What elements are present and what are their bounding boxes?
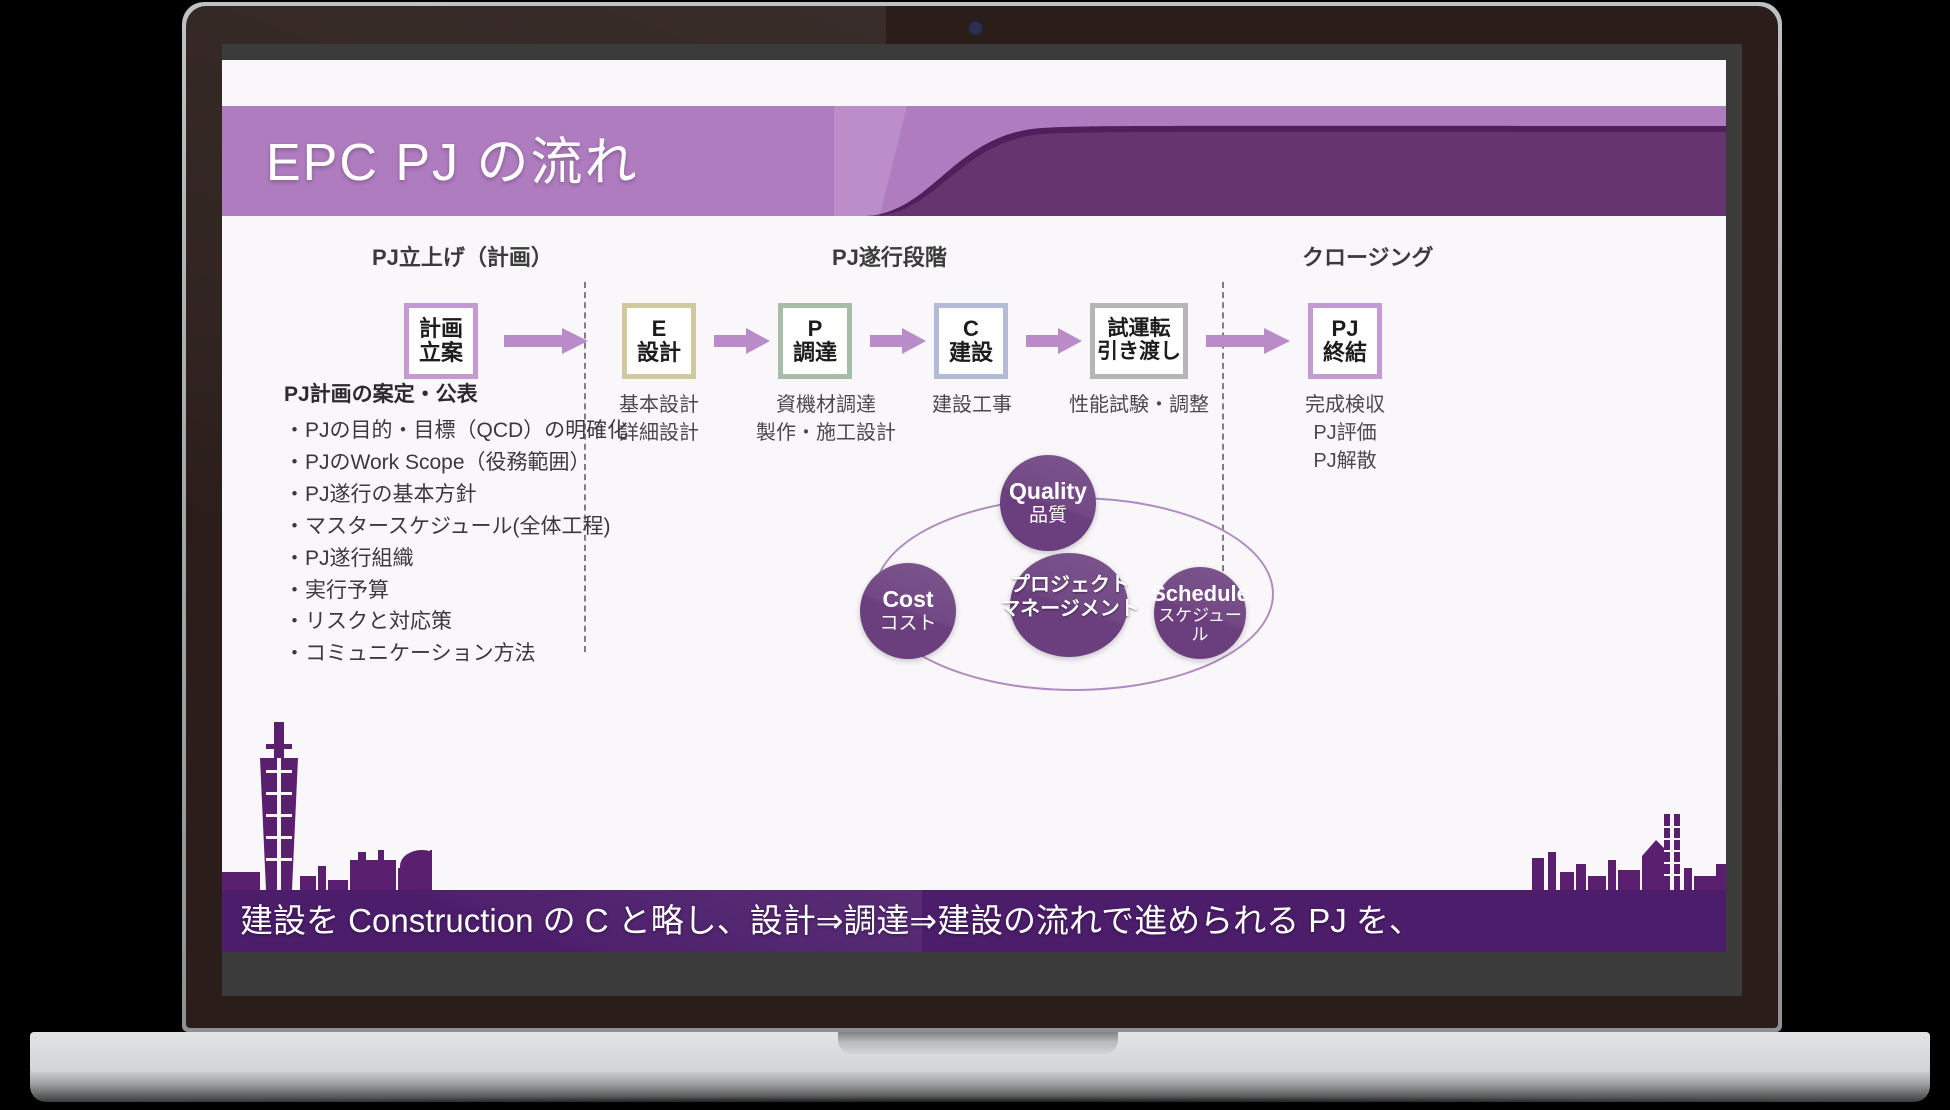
- laptop-frame: EPC PJ の流れ PJ立上げ（計画） PJ遂行段階 クロージング 計画 立案…: [0, 0, 1950, 1109]
- qcd-center-label: プロジェクト マネージメント: [970, 573, 1170, 621]
- sub-caption-commissioning: 性能試験・調整: [1058, 392, 1220, 418]
- phase-box-e-line2: 設計: [637, 341, 681, 365]
- laptop-drop-shadow: [120, 1096, 1840, 1110]
- list-item: ・コミュニケーション方法: [284, 638, 754, 670]
- arrow-e-to-p: [714, 328, 770, 354]
- bubble-glare: [1000, 455, 1096, 551]
- slide-canvas: EPC PJ の流れ PJ立上げ（計画） PJ遂行段階 クロージング 計画 立案…: [222, 60, 1726, 890]
- group-label-execution: PJ遂行段階: [832, 240, 947, 272]
- caption-text: 建設を Construction の C と略し、設計⇒調達⇒建設の流れで進めら…: [240, 890, 1720, 952]
- phase-box-plan-line1: 計画: [419, 317, 463, 341]
- list-item: ・PJ遂行組織: [284, 543, 754, 575]
- skyline-left-decoration: [222, 700, 432, 890]
- page-title: EPC PJ の流れ: [266, 122, 906, 204]
- phase-box-t-line1: 試運転: [1108, 318, 1171, 341]
- phase-box-p-line1: P: [808, 317, 823, 341]
- phase-box-commissioning[interactable]: 試運転 引き渡し: [1090, 303, 1188, 379]
- arrow-plan-to-e: [504, 328, 588, 354]
- phase-box-plan[interactable]: 計画 立案: [404, 303, 478, 379]
- qcd-center-line2: マネージメント: [970, 597, 1170, 621]
- list-item: ・実行予算: [284, 575, 754, 607]
- list-item: ・PJ遂行の基本方針: [284, 479, 754, 511]
- arrow-c-to-commissioning: [1026, 328, 1082, 354]
- sub-caption-procurement-1: 資機材調達: [732, 392, 920, 418]
- bullet-list-heading: PJ計画の案定・公表: [284, 378, 754, 408]
- qcd-bubble-quality[interactable]: Quality 品質: [1000, 455, 1096, 551]
- qcd-diagram: Quality 品質 Cost コスト Schedule スケジュール プロジェ…: [852, 455, 1292, 695]
- phase-box-z-line2: 終結: [1323, 341, 1367, 365]
- arrow-commissioning-to-close: [1206, 328, 1290, 354]
- bubble-glare: [860, 563, 956, 659]
- planning-bullet-list: PJ計画の案定・公表 ・PJの目的・目標（QCD）の明確化 ・PJのWork S…: [284, 378, 754, 670]
- laptop-base-notch: [838, 1032, 1118, 1054]
- skyline-right-decoration: [1526, 760, 1726, 890]
- arrow-p-to-c: [870, 328, 926, 354]
- phase-box-c-line2: 建設: [949, 341, 993, 365]
- phase-box-c-line1: C: [963, 317, 979, 341]
- phase-box-engineering[interactable]: E 設計: [622, 303, 696, 379]
- list-item: ・リスクと対応策: [284, 606, 754, 638]
- group-label-planning: PJ立上げ（計画）: [372, 240, 553, 272]
- phase-box-z-line1: PJ: [1332, 317, 1359, 341]
- phase-box-plan-line2: 立案: [419, 341, 463, 365]
- sub-caption-closure-1: 完成検収: [1272, 392, 1418, 418]
- qcd-center-line1: プロジェクト: [970, 573, 1170, 597]
- webcam-icon: [968, 20, 983, 35]
- list-item: ・マスタースケジュール(全体工程): [284, 511, 754, 543]
- phase-box-t-line2: 引き渡し: [1097, 341, 1181, 364]
- sub-caption-procurement-2: 製作・施工設計: [732, 420, 920, 446]
- sub-caption-construction: 建設工事: [908, 392, 1036, 418]
- phase-box-e-line1: E: [652, 317, 667, 341]
- phase-box-p-line2: 調達: [793, 341, 837, 365]
- sub-caption-closure-3: PJ解散: [1272, 448, 1418, 474]
- sub-caption-closure-2: PJ評価: [1272, 420, 1418, 446]
- phase-box-closure[interactable]: PJ 終結: [1308, 303, 1382, 379]
- phase-box-construction[interactable]: C 建設: [934, 303, 1008, 379]
- list-item: ・PJのWork Scope（役務範囲）: [284, 447, 754, 479]
- screen-bottom-band: [222, 952, 1742, 996]
- qcd-bubble-cost[interactable]: Cost コスト: [860, 563, 956, 659]
- list-item: ・PJの目的・目標（QCD）の明確化: [284, 415, 754, 447]
- group-label-closing: クロージング: [1302, 240, 1434, 272]
- phase-box-procurement[interactable]: P 調達: [778, 303, 852, 379]
- slide-header-wave: [862, 106, 1726, 216]
